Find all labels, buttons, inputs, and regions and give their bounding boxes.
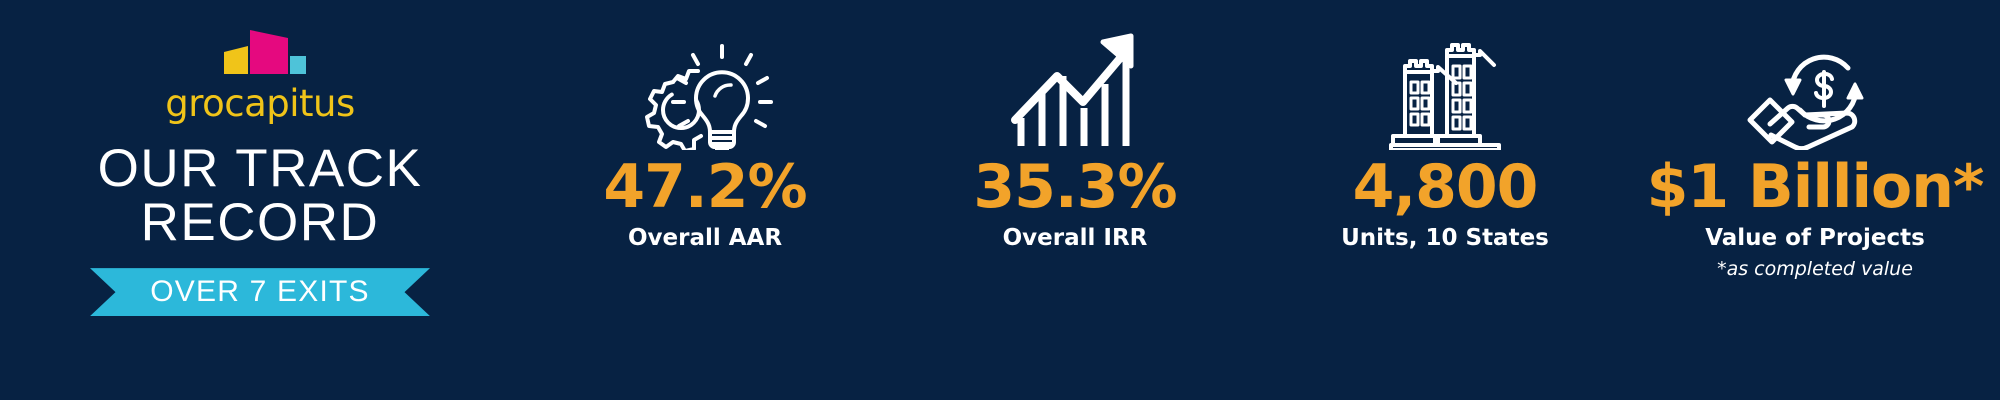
grocapitus-buildings-logo-icon	[212, 26, 308, 83]
headline-line-2: RECORD	[98, 196, 423, 250]
stat-value: $1 Billion*	[1647, 156, 1984, 219]
stat-value: 47.2%	[603, 156, 806, 219]
stat-footnote: *as completed value	[1717, 258, 1913, 280]
page-title: OUR TRACK RECORD	[98, 142, 423, 250]
brand-wordmark: grocapitus	[165, 85, 355, 122]
growth-bar-chart-arrow-icon	[1005, 28, 1145, 150]
exits-ribbon: OVER 7 EXITS	[90, 268, 430, 316]
stat-value: 4,800	[1353, 156, 1538, 219]
stat-label: Value of Projects	[1705, 225, 1925, 251]
ribbon-label: OVER 7 EXITS	[90, 268, 430, 316]
stat-overall-aar: 47.2% Overall AAR	[525, 28, 885, 251]
headline-line-1: OUR TRACK	[98, 142, 423, 196]
stat-label: Units, 10 States	[1341, 225, 1549, 251]
stat-label: Overall AAR	[628, 225, 782, 251]
brand-block: grocapitus OUR TRACK RECORD OVER 7 EXITS	[0, 0, 520, 400]
stats-row: 47.2% Overall AAR 3	[520, 0, 2000, 400]
stat-value: 35.3%	[973, 156, 1176, 219]
logo-lockup: grocapitus	[165, 26, 355, 122]
lightbulb-gear-icon	[629, 28, 781, 150]
stat-value-of-projects: $1 Billion* Value of Projects *as comple…	[1635, 28, 1995, 280]
hand-holding-dollar-coin-icon	[1740, 28, 1890, 150]
track-record-banner: grocapitus OUR TRACK RECORD OVER 7 EXITS	[0, 0, 2000, 400]
stat-label: Overall IRR	[1003, 225, 1148, 251]
stat-units: 4,800 Units, 10 States	[1265, 28, 1625, 251]
apartment-buildings-icon	[1375, 28, 1515, 150]
stat-overall-irr: 35.3% Overall IRR	[895, 28, 1255, 251]
